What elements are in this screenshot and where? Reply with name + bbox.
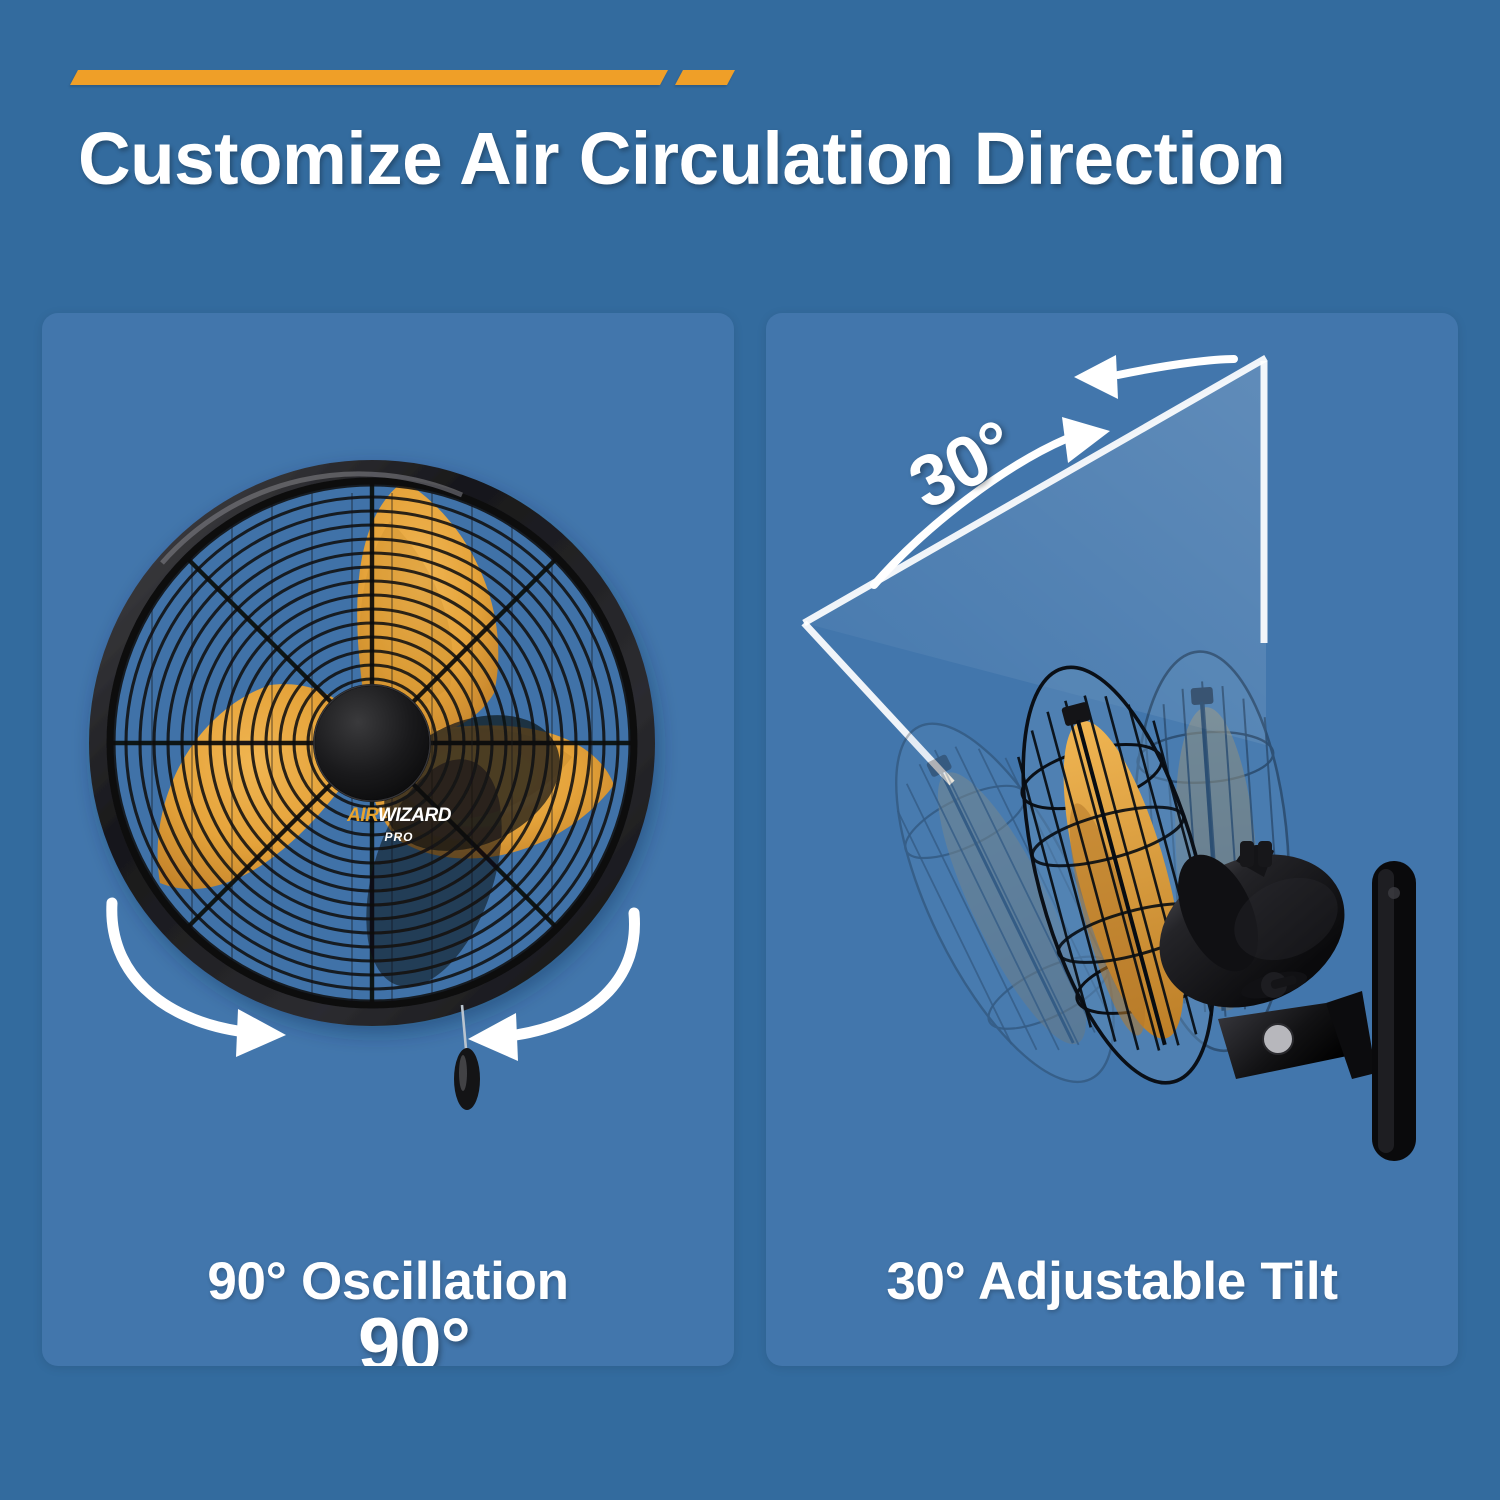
hub-brand-lockup: AIRWIZARD PRO <box>344 806 454 843</box>
brand-primary: AIR <box>347 805 378 826</box>
fan-hub <box>314 685 430 801</box>
page-title: Customize Air Circulation Direction <box>78 122 1418 196</box>
fan-front-svg <box>42 313 734 1193</box>
accent-bar-long-segment <box>70 70 668 85</box>
wall-mount-plate <box>1372 861 1416 1161</box>
pull-chain <box>454 1005 480 1110</box>
infographic-root: Customize Air Circulation Direction <box>0 0 1500 1500</box>
caption-tilt: 30° Adjustable Tilt <box>766 1251 1458 1312</box>
fan-tilt-illustration: 30° <box>766 313 1458 1193</box>
fan-tilt-svg <box>766 313 1458 1193</box>
accent-bar <box>74 66 734 92</box>
accent-bar-short-segment <box>675 70 735 85</box>
caption-oscillation: 90° Oscillation <box>42 1251 734 1312</box>
fan-front-illustration: 90° <box>42 313 734 1193</box>
brand-secondary: WIZARD <box>378 805 451 826</box>
panel-card-tilt: 30° 30° Adjustable Tilt <box>766 313 1458 1366</box>
brand-tagline: PRO <box>344 831 454 843</box>
